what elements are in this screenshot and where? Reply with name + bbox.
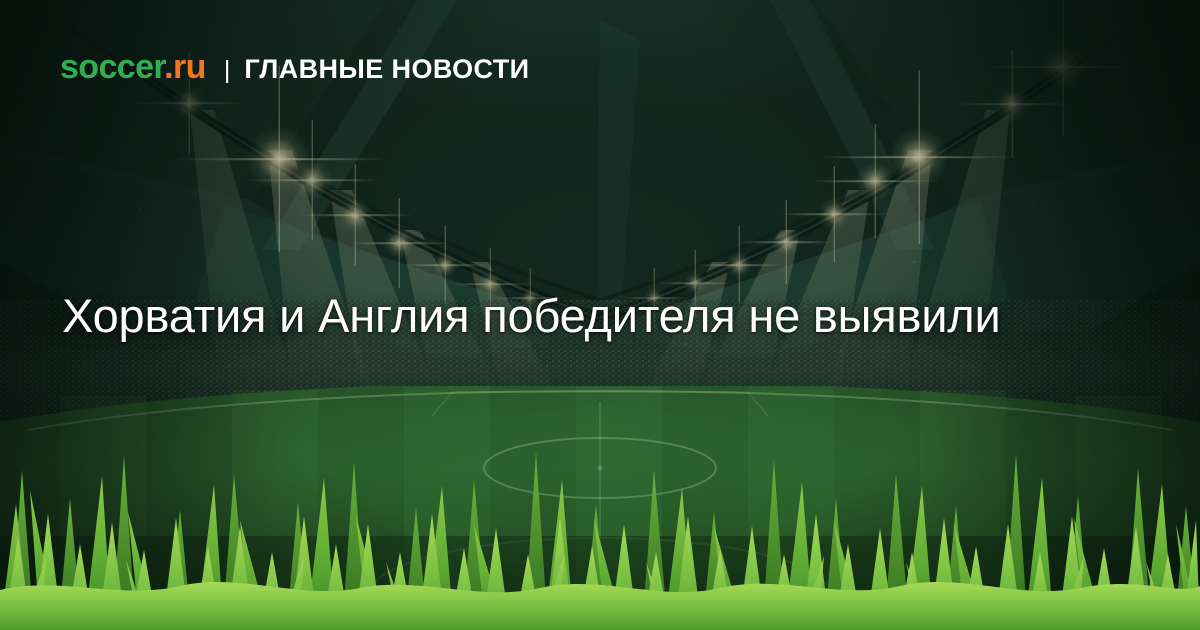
logo-name-text: soccer (60, 48, 164, 86)
foreground-grass (0, 440, 1200, 630)
soccer-ru-logo[interactable]: soccer.ru (60, 50, 206, 84)
header-separator: | (224, 58, 231, 83)
site-header: soccer.ru | ГЛАВНЫЕ НОВОСТИ (60, 50, 529, 84)
share-card: soccer.ru | ГЛАВНЫЕ НОВОСТИ Хорватия и А… (0, 0, 1200, 630)
article-headline: Хорватия и Англия победителя не выявили (62, 286, 1047, 347)
logo-domain-text: .ru (164, 48, 206, 86)
header-kicker-label: ГЛАВНЫЕ НОВОСТИ (244, 56, 529, 83)
